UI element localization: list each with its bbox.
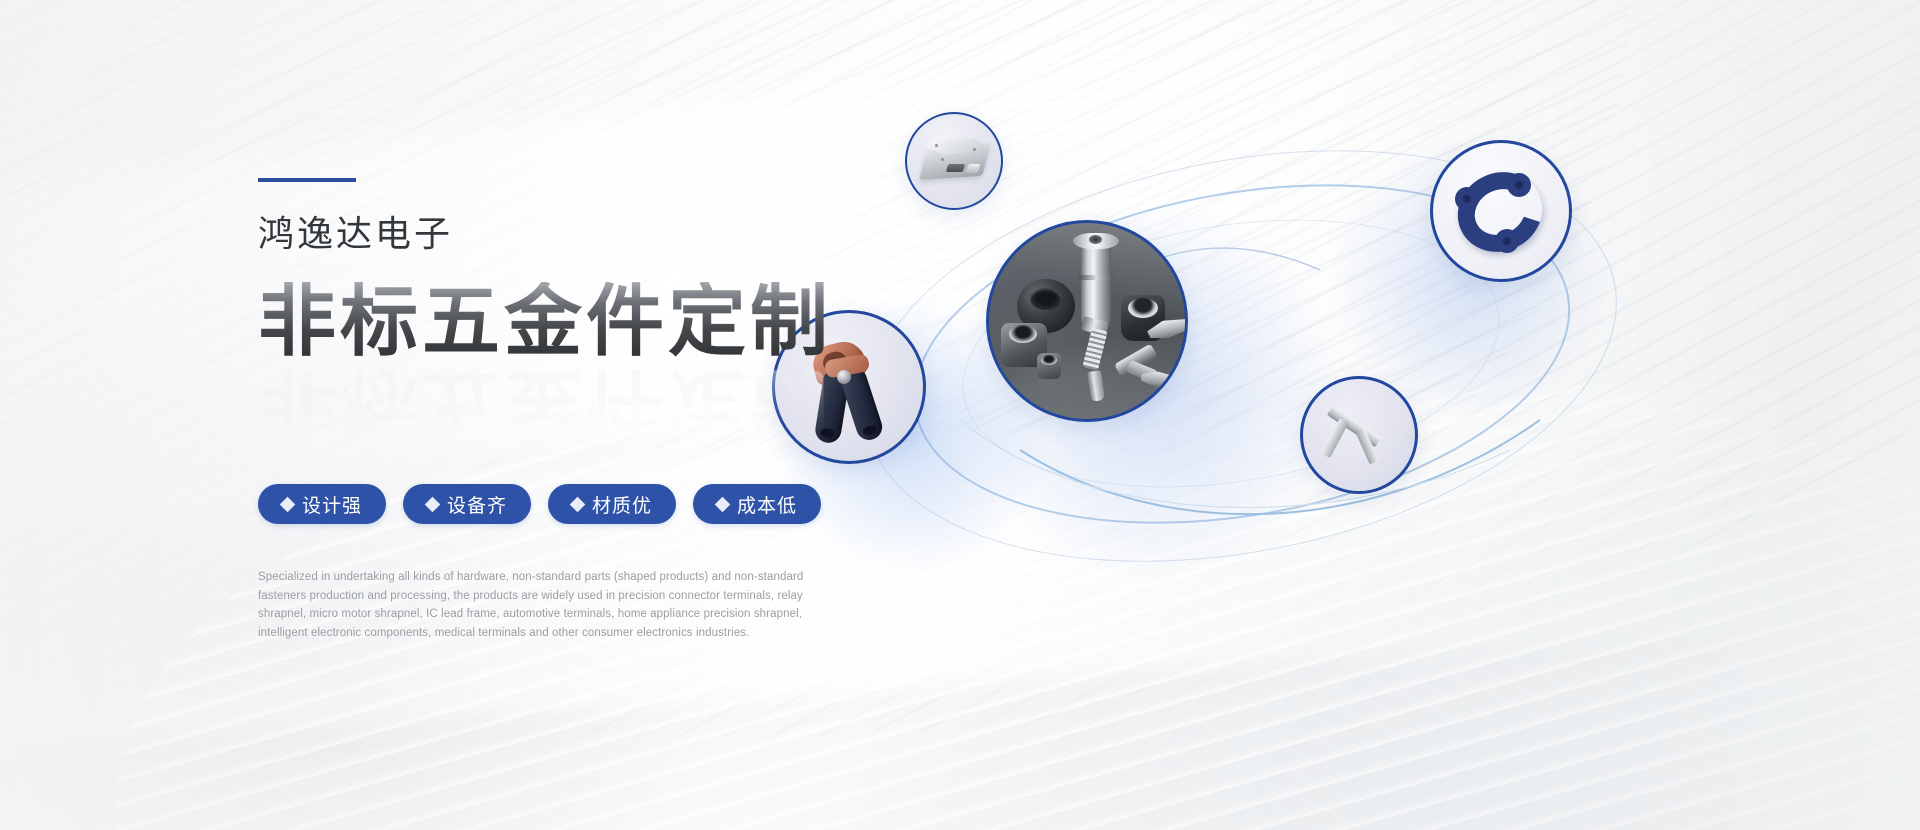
bubble-metal-enclosure-box[interactable] — [905, 112, 1003, 210]
e-clip-hole-2 — [1515, 181, 1523, 189]
bubble-bent-metal-bracket[interactable] — [1300, 376, 1418, 494]
diamond-icon — [715, 496, 731, 512]
feature-badge-label: 设计强 — [302, 491, 362, 518]
part-mini-socket — [1037, 353, 1061, 379]
headline-block: 非标五金件定制 非标五金件定制 — [258, 282, 898, 438]
product-showcase — [900, 120, 1720, 590]
company-description: Specialized in undertaking all kinds of … — [258, 568, 823, 643]
page-title: 非标五金件定制 — [258, 282, 898, 360]
company-name: 鸿逸达电子 — [258, 216, 898, 252]
feature-badge-material[interactable]: 材质优 — [548, 484, 676, 524]
hero-content: 鸿逸达电子 非标五金件定制 非标五金件定制 设计强 设备齐 材质优 成本低 — [258, 178, 898, 654]
bubble-machined-connector-parts[interactable] — [986, 220, 1188, 422]
feature-badge-equipment[interactable]: 设备齐 — [403, 484, 531, 524]
accent-rule — [258, 178, 356, 182]
enclosure-screw-3 — [941, 158, 944, 161]
feature-badge-label: 材质优 — [592, 491, 652, 518]
bubble-blue-retaining-e-clip[interactable] — [1430, 140, 1572, 282]
e-clip-hole-3 — [1503, 237, 1511, 245]
feature-badge-label: 成本低 — [737, 491, 797, 518]
hero-banner: 鸿逸达电子 非标五金件定制 非标五金件定制 设计强 设备齐 材质优 成本低 — [0, 0, 1920, 830]
part-cylindrical-pin-bore — [1089, 235, 1102, 244]
part-cylindrical-pin-band — [1079, 275, 1113, 280]
enclosure-screw-1 — [935, 144, 938, 147]
feature-badge-cost[interactable]: 成本低 — [693, 484, 821, 524]
enclosure-screw-2 — [973, 148, 976, 151]
enclosure-port — [946, 164, 966, 172]
diamond-icon — [425, 496, 441, 512]
bracket-arm-upper — [1321, 418, 1349, 458]
feature-badge-design[interactable]: 设计强 — [258, 484, 386, 524]
feature-badge-label: 设备齐 — [447, 491, 507, 518]
feature-badge-list: 设计强 设备齐 材质优 成本低 — [258, 484, 898, 524]
diamond-icon — [280, 496, 296, 512]
diamond-icon — [570, 496, 586, 512]
part-cylindrical-pin-body — [1081, 241, 1111, 323]
e-clip-hole-1 — [1463, 195, 1471, 203]
page-title-reflection: 非标五金件定制 — [258, 366, 832, 444]
